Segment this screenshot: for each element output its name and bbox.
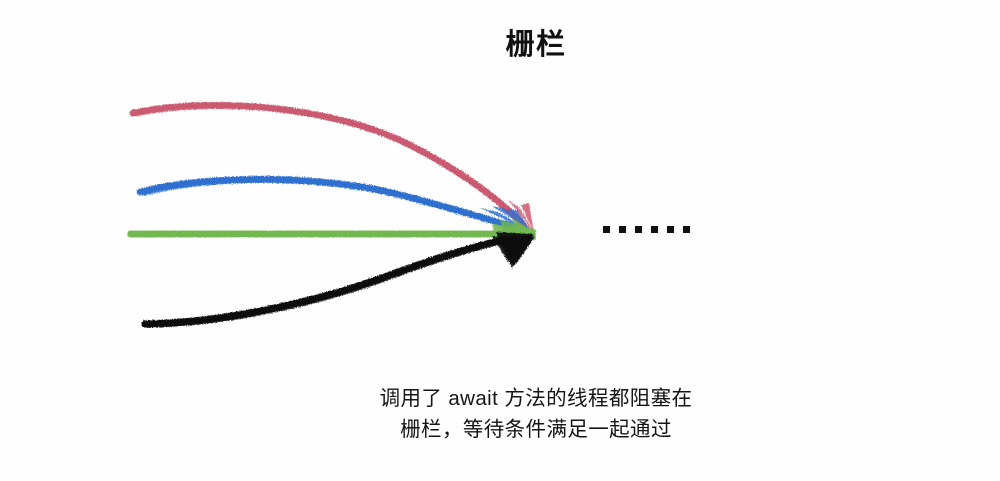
thread-line-green — [131, 232, 531, 235]
caption-line-2: 栅栏，等待条件满足一起通过 — [380, 414, 693, 445]
ellipsis-dot — [667, 226, 674, 233]
ellipsis-dot — [683, 226, 690, 233]
ellipsis-dot — [635, 226, 642, 233]
diagram-canvas: 栅栏 调用了 await 方法的线程都阻塞在 栅栏，等待条件满足一起通过 — [0, 0, 1000, 481]
page-title: 栅栏 — [505, 26, 566, 64]
ellipsis-dot — [651, 226, 658, 233]
caption-line-1: 调用了 await 方法的线程都阻塞在 — [380, 383, 693, 414]
caption: 调用了 await 方法的线程都阻塞在 栅栏，等待条件满足一起通过 — [380, 383, 693, 445]
thread-line-blue — [140, 179, 528, 233]
ellipsis-more-threads — [603, 226, 690, 233]
ellipsis-dot — [603, 226, 610, 233]
thread-line-black — [145, 235, 528, 326]
ellipsis-dot — [619, 226, 626, 233]
